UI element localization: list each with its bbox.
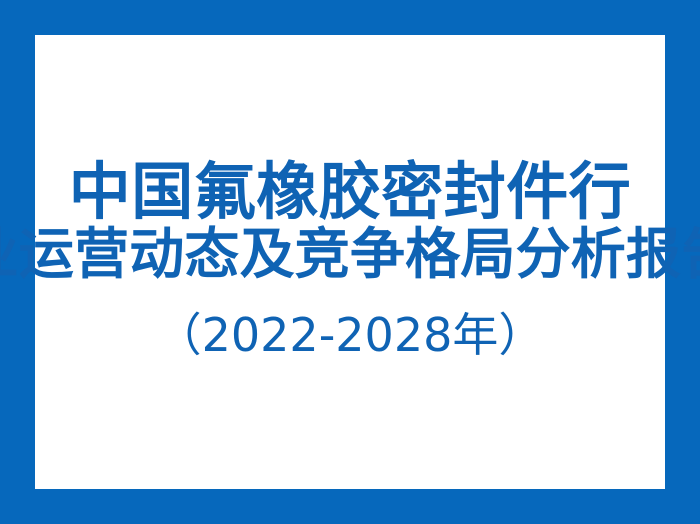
report-title-line-2: 业运营动态及竞争格局分析报告 [0, 227, 700, 282]
report-cover-page: 中国氟橡胶密封件行 业运营动态及竞争格局分析报告 （2022-2028年） [0, 0, 700, 524]
cover-white-panel: 中国氟橡胶密封件行 业运营动态及竞争格局分析报告 （2022-2028年） [35, 35, 665, 489]
report-subtitle-year-range: （2022-2028年） [156, 312, 545, 358]
cover-title-block: 中国氟橡胶密封件行 业运营动态及竞争格局分析报告 [35, 161, 665, 282]
report-title-line-1: 中国氟橡胶密封件行 [69, 161, 632, 223]
